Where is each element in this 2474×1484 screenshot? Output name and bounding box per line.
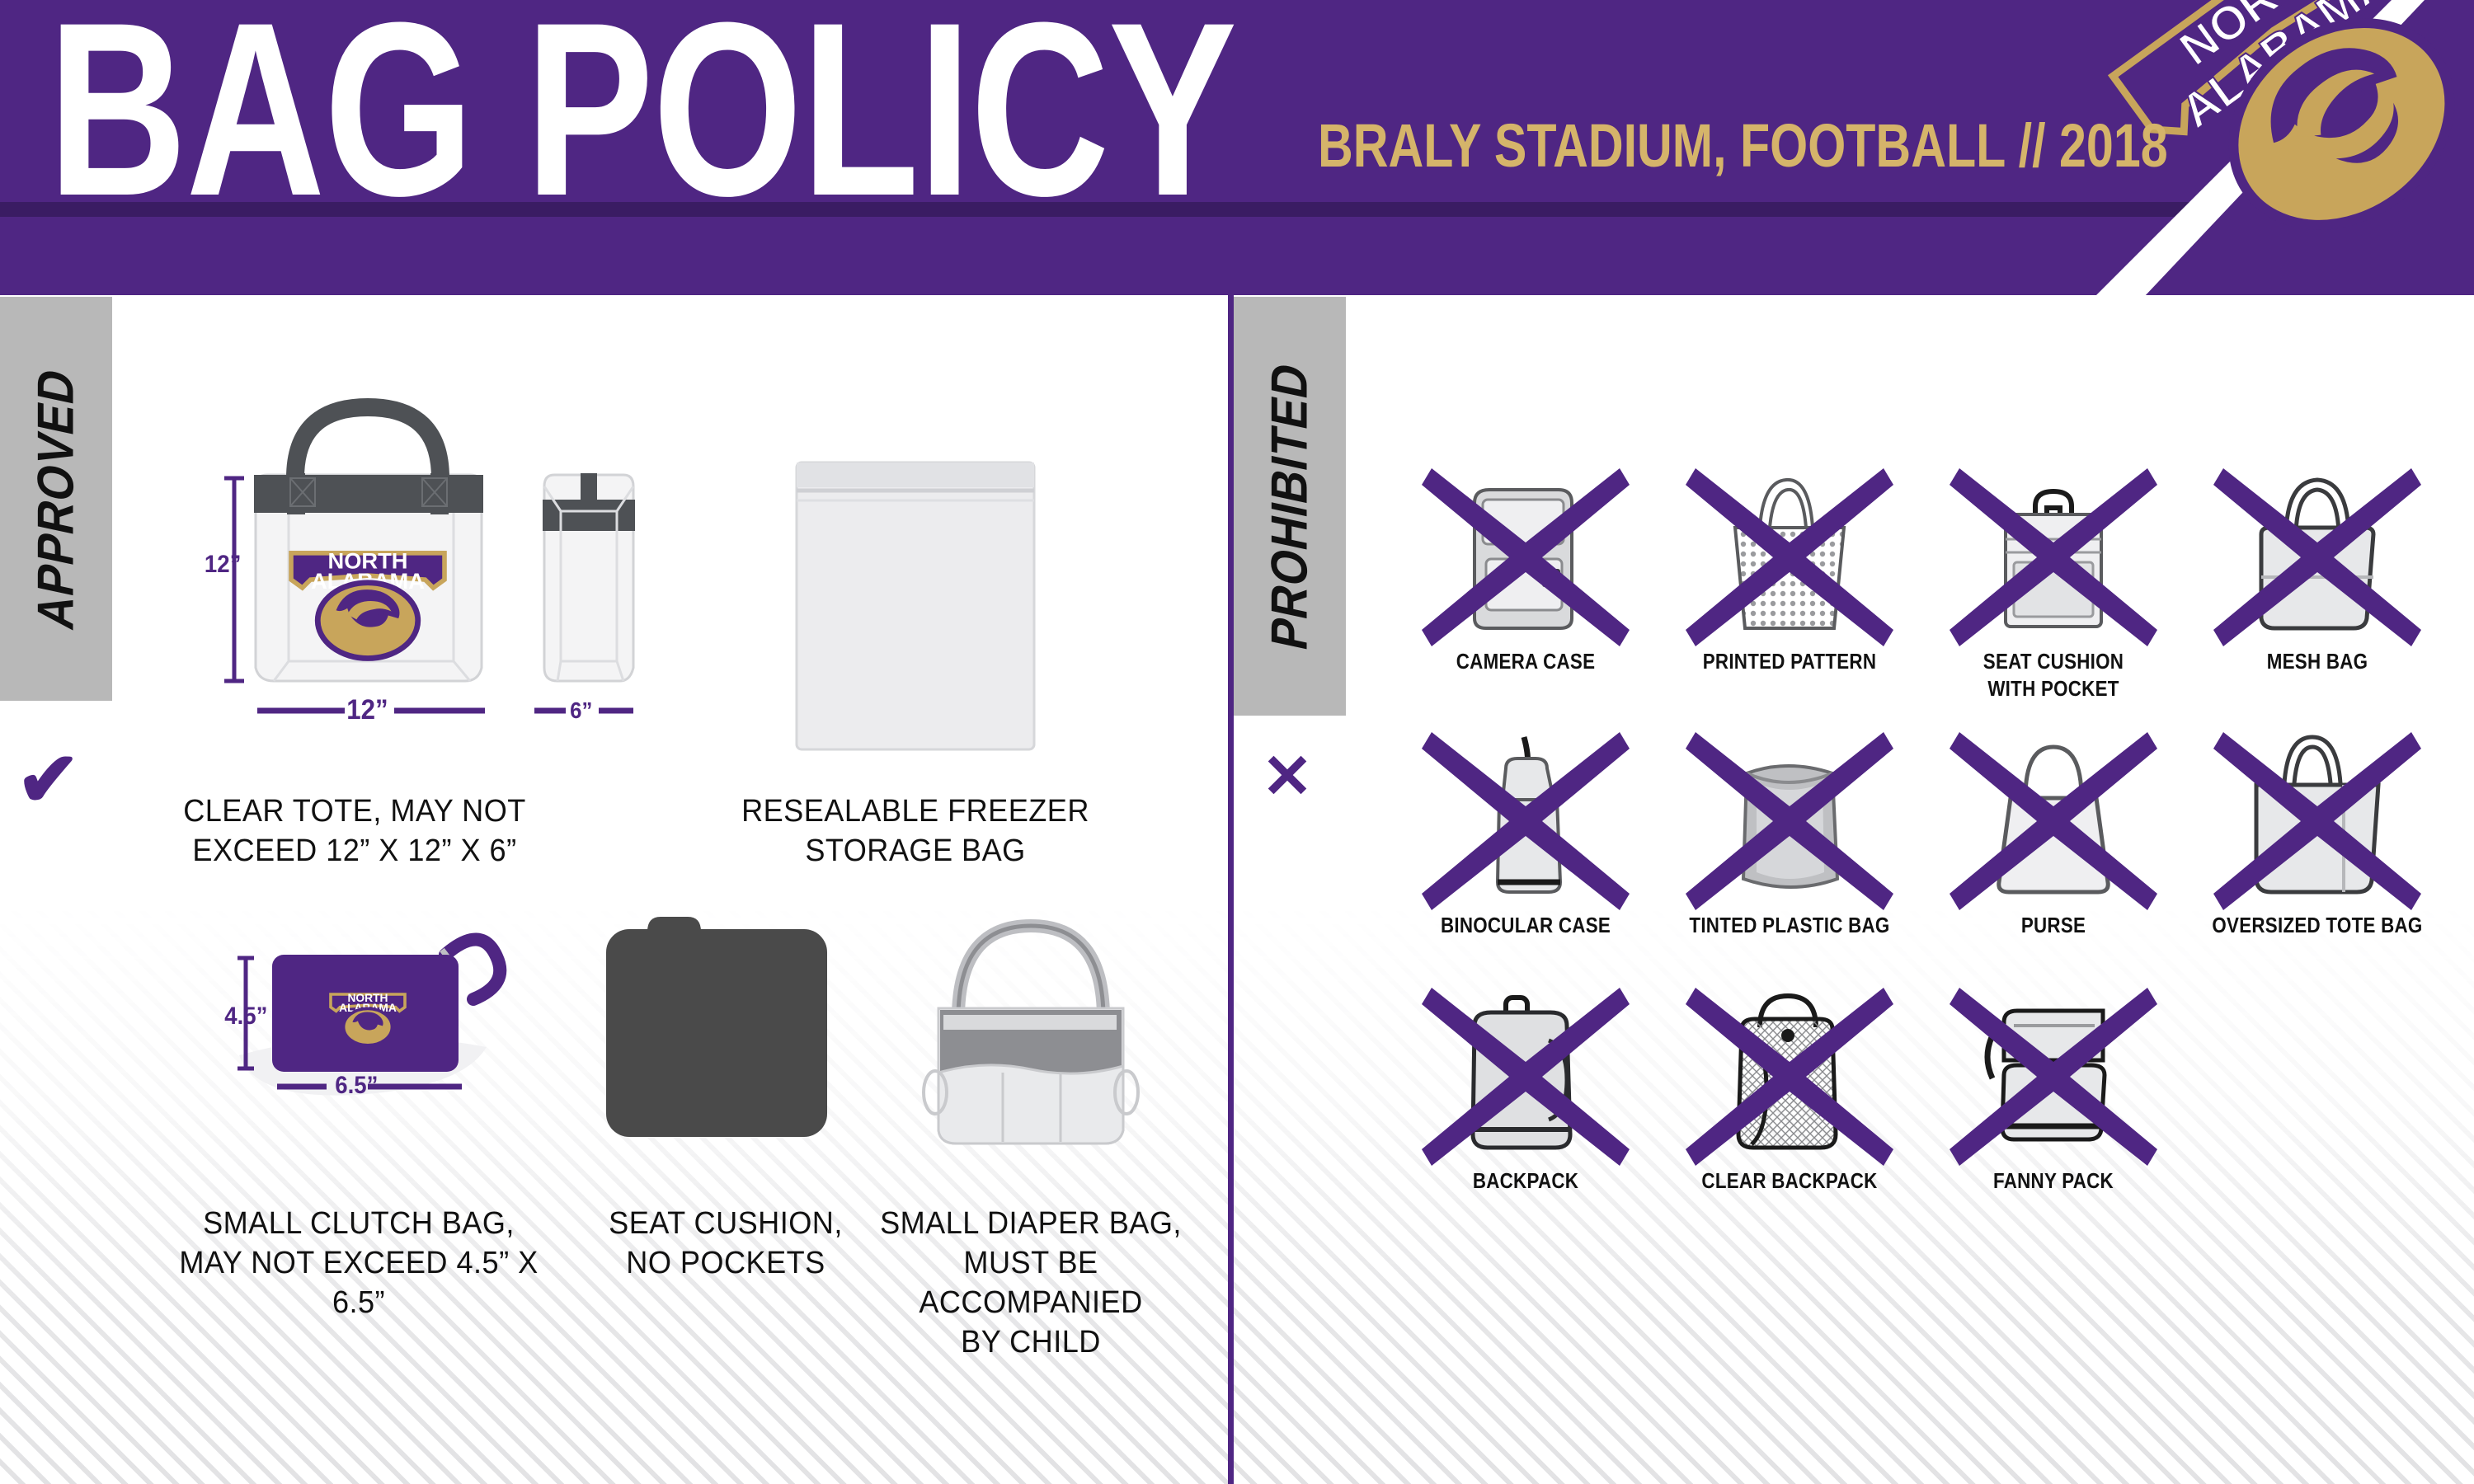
prohibited-label-tinted-plastic-bag: TINTED PLASTIC BAG bbox=[1683, 912, 1896, 939]
prohibited-x-icon bbox=[1948, 463, 2159, 650]
approved-caption-diaper-bag: SMALL DIAPER BAG, MUST BE ACCOMPANIED BY… bbox=[874, 1204, 1188, 1362]
prohibited-x-icon bbox=[1420, 727, 1631, 913]
prohibited-item-camera-case: CAMERA CASE bbox=[1402, 470, 1649, 675]
tote-depth-dimension: 6” bbox=[570, 697, 592, 724]
prohibited-x-icon bbox=[1684, 727, 1895, 913]
clutch-width-dimension: 6.5” bbox=[335, 1072, 378, 1100]
prohibited-x-icon bbox=[1684, 983, 1895, 1169]
prohibited-x-icon bbox=[1948, 983, 2159, 1169]
prohibited-label-printed-pattern: PRINTED PATTERN bbox=[1683, 648, 1896, 675]
approved-diaper-bag-illustration bbox=[915, 895, 1146, 1158]
prohibited-item-fanny-pack: FANNY PACK bbox=[1930, 989, 2177, 1195]
approved-caption-clutch-bag: SMALL CLUTCH BAG, MAY NOT EXCEED 4.5” X … bbox=[175, 1204, 543, 1322]
prohibited-item-backpack: BACKPACK bbox=[1402, 989, 1649, 1195]
approved-seat-cushion-illustration bbox=[602, 903, 841, 1150]
approved-caption-freezer-bag: RESEALABLE FREEZER STORAGE BAG bbox=[720, 791, 1112, 871]
approved-caption-clear-tote: CLEAR TOTE, MAY NOT EXCEED 12” X 12” X 6… bbox=[151, 791, 558, 871]
prohibited-label-purse: PURSE bbox=[1947, 912, 2160, 939]
north-alabama-lions-logo: NORTH ALABAMA bbox=[2128, 0, 2474, 280]
prohibited-item-purse: PURSE bbox=[1930, 734, 2177, 939]
tote-width-dimension: 12” bbox=[346, 694, 388, 726]
prohibited-x-icon bbox=[2212, 463, 2423, 650]
prohibited-section-tab: PROHIBITED bbox=[1234, 297, 1346, 716]
prohibited-x-icon bbox=[1420, 463, 1631, 650]
prohibited-label-clear-backpack: CLEAR BACKPACK bbox=[1683, 1167, 1896, 1195]
prohibited-item-binocular-case: BINOCULAR CASE bbox=[1402, 734, 1649, 939]
prohibited-item-mesh-bag: MESH BAG bbox=[2194, 470, 2441, 675]
prohibited-tab-label: PROHIBITED bbox=[1261, 358, 1319, 655]
approved-tab-label: APPROVED bbox=[27, 364, 86, 634]
prohibited-x-icon bbox=[1948, 727, 2159, 913]
prohibited-label-camera-case: CAMERA CASE bbox=[1419, 648, 1632, 675]
approved-clear-tote-illustration: NORTH ALABAMA bbox=[198, 387, 660, 750]
prohibited-label-seat-cushion-with-pocket: SEAT CUSHION WITH POCKET bbox=[1947, 648, 2160, 702]
header-subtitle: BRALY STADIUM, FOOTBALL // 2018 bbox=[1318, 115, 2168, 176]
prohibited-label-oversized-tote-bag: OVERSIZED TOTE BAG bbox=[2211, 912, 2424, 939]
prohibited-item-seat-cushion-with-pocket: SEAT CUSHION WITH POCKET bbox=[1930, 470, 2177, 702]
prohibited-item-printed-pattern: PRINTED PATTERN bbox=[1666, 470, 1913, 675]
prohibited-label-fanny-pack: FANNY PACK bbox=[1947, 1167, 2160, 1195]
column-divider bbox=[1228, 295, 1234, 1484]
prohibited-label-mesh-bag: MESH BAG bbox=[2211, 648, 2424, 675]
tote-height-dimension: 12” bbox=[205, 551, 242, 579]
x-icon: ✕ bbox=[1262, 746, 1313, 807]
prohibited-x-icon bbox=[1420, 983, 1631, 1169]
page-header: BAG POLICY BRALY STADIUM, FOOTBALL // 20… bbox=[0, 0, 2474, 295]
prohibited-item-oversized-tote-bag: OVERSIZED TOTE BAG bbox=[2194, 734, 2441, 939]
approved-caption-seat-cushion: SEAT CUSHION, NO POCKETS bbox=[585, 1204, 867, 1283]
approved-section-tab: APPROVED bbox=[0, 297, 112, 701]
prohibited-label-binocular-case: BINOCULAR CASE bbox=[1419, 912, 1632, 939]
clutch-height-dimension: 4.5” bbox=[224, 1003, 267, 1031]
approved-freezer-bag-illustration bbox=[792, 458, 1039, 754]
page-title: BAG POLICY bbox=[48, 0, 1236, 232]
prohibited-label-backpack: BACKPACK bbox=[1419, 1167, 1632, 1195]
check-icon: ✔ bbox=[16, 742, 80, 818]
prohibited-item-tinted-plastic-bag: TINTED PLASTIC BAG bbox=[1666, 734, 1913, 939]
prohibited-item-clear-backpack: CLEAR BACKPACK bbox=[1666, 989, 1913, 1195]
prohibited-x-icon bbox=[2212, 727, 2423, 913]
prohibited-x-icon bbox=[1684, 463, 1895, 650]
